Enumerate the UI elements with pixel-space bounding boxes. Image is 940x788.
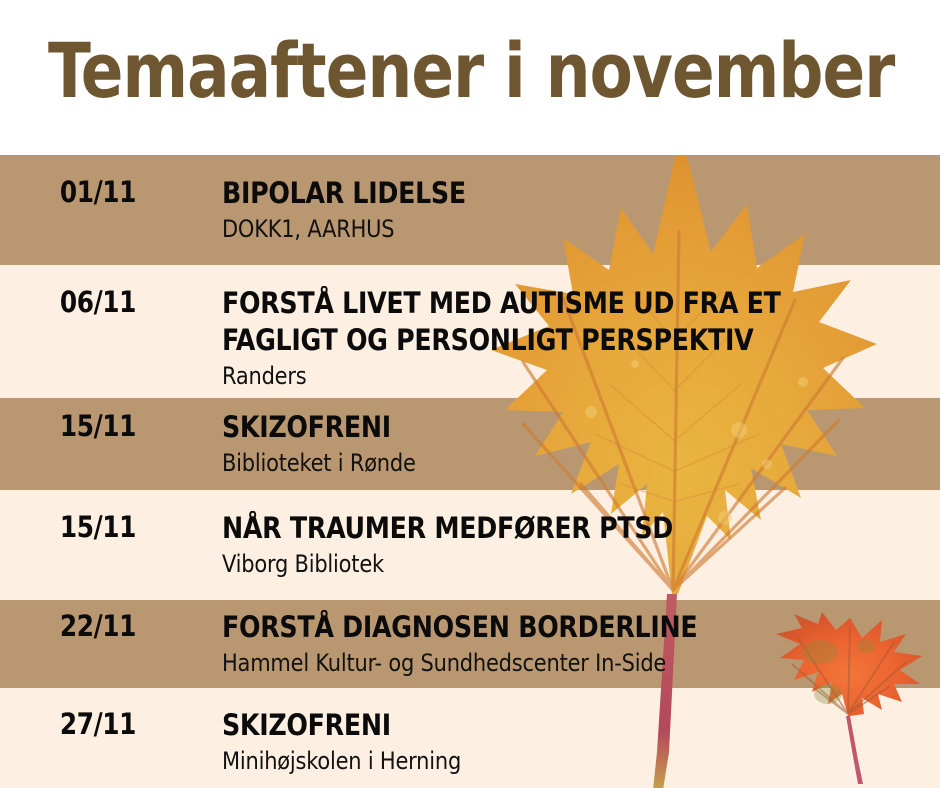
event-body: SKIZOFRENIMinihøjskolen i Herning bbox=[222, 707, 940, 777]
schedule-row[interactable]: 01/11BIPOLAR LIDELSEDOKK1, AARHUS bbox=[0, 175, 940, 265]
page-title: Temaaftener i november bbox=[48, 28, 894, 114]
event-date: 15/11 bbox=[0, 510, 211, 544]
event-date: 06/11 bbox=[0, 285, 211, 319]
schedule-row[interactable]: 06/11FORSTÅ LIVET MED AUTISME UD FRA ET … bbox=[0, 285, 940, 398]
event-title: SKIZOFRENI bbox=[222, 707, 918, 744]
schedule-row[interactable]: 15/11SKIZOFRENIBiblioteket i Rønde bbox=[0, 409, 940, 490]
schedule-row[interactable]: 27/11SKIZOFRENIMinihøjskolen i Herning bbox=[0, 707, 940, 788]
event-venue: Minihøjskolen i Herning bbox=[222, 745, 918, 777]
event-venue: Randers bbox=[222, 360, 918, 392]
event-body: BIPOLAR LIDELSEDOKK1, AARHUS bbox=[222, 175, 940, 245]
event-date: 01/11 bbox=[0, 175, 211, 209]
event-body: FORSTÅ DIAGNOSEN BORDERLINEHammel Kultur… bbox=[222, 609, 940, 679]
event-date: 15/11 bbox=[0, 409, 211, 443]
event-body: FORSTÅ LIVET MED AUTISME UD FRA ET FAGLI… bbox=[222, 285, 940, 392]
event-title: SKIZOFRENI bbox=[222, 409, 918, 446]
schedule-list: 01/11BIPOLAR LIDELSEDOKK1, AARHUS06/11FO… bbox=[0, 155, 940, 788]
event-date: 22/11 bbox=[0, 609, 211, 643]
event-venue: Hammel Kultur- og Sundhedscenter In-Side bbox=[222, 647, 918, 679]
event-title: FORSTÅ DIAGNOSEN BORDERLINE bbox=[222, 609, 918, 646]
event-venue: DOKK1, AARHUS bbox=[222, 213, 918, 245]
event-date: 27/11 bbox=[0, 707, 211, 741]
event-body: NÅR TRAUMER MEDFØRER PTSDViborg Bibliote… bbox=[222, 510, 940, 580]
poster-header: Temaaftener i november bbox=[0, 0, 940, 155]
event-title: BIPOLAR LIDELSE bbox=[222, 175, 918, 212]
event-title: NÅR TRAUMER MEDFØRER PTSD bbox=[222, 510, 918, 547]
event-title: FORSTÅ LIVET MED AUTISME UD FRA ET FAGLI… bbox=[222, 285, 918, 359]
poster-canvas: Temaaftener i november 01/11BIPOLAR LIDE… bbox=[0, 0, 940, 788]
schedule-row[interactable]: 22/11FORSTÅ DIAGNOSEN BORDERLINEHammel K… bbox=[0, 609, 940, 688]
event-body: SKIZOFRENIBiblioteket i Rønde bbox=[222, 409, 940, 479]
schedule-row[interactable]: 15/11NÅR TRAUMER MEDFØRER PTSDViborg Bib… bbox=[0, 510, 940, 600]
event-venue: Viborg Bibliotek bbox=[222, 548, 918, 580]
event-venue: Biblioteket i Rønde bbox=[222, 447, 918, 479]
